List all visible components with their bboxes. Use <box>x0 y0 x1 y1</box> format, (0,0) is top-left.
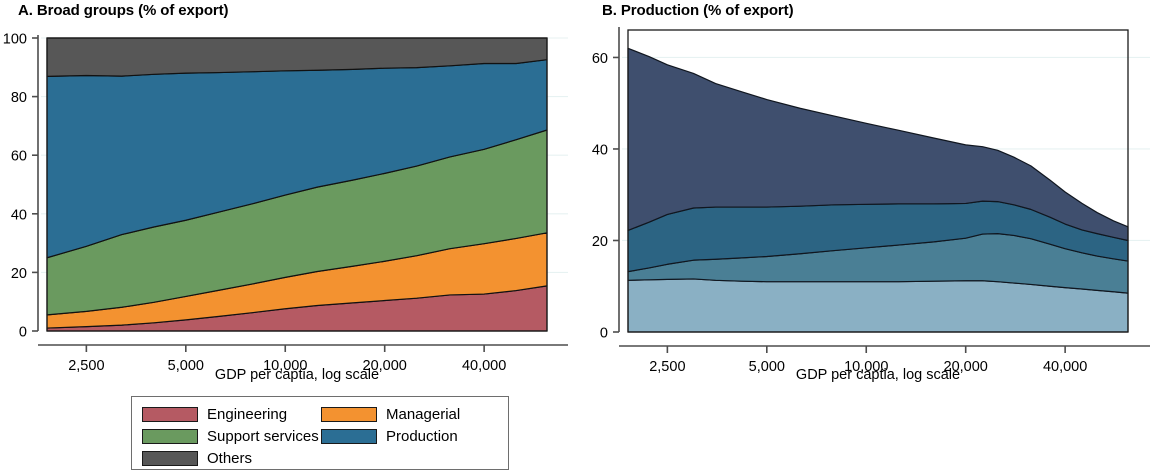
legend-swatch <box>321 429 377 444</box>
legend-item[interactable]: Managerial <box>321 403 500 425</box>
x-tick-label: 2,500 <box>68 358 104 374</box>
legend-label: Engineering <box>207 406 287 423</box>
y-tick-label: 80 <box>11 90 27 106</box>
y-tick-label: 20 <box>11 266 27 282</box>
y-tick-label: 0 <box>600 326 608 342</box>
x-tick-label: 40,000 <box>1043 359 1087 375</box>
x-tick-label: 5,000 <box>749 359 785 375</box>
legend-label: Support services <box>207 428 319 445</box>
legend-label: Managerial <box>386 406 460 423</box>
x-axis-title: GDP per captia, log scale <box>215 367 379 383</box>
y-tick-label: 0 <box>19 325 27 341</box>
y-tick-label: 40 <box>11 207 27 223</box>
legend-swatch <box>142 407 198 422</box>
figure-root: A. Broad groups (% of export) 0204060801… <box>0 0 1154 474</box>
legend-item[interactable]: Support services <box>142 425 321 447</box>
legend-item[interactable]: Others <box>142 447 321 469</box>
y-tick-label: 40 <box>592 142 608 158</box>
legend-item[interactable]: Production <box>321 425 500 447</box>
panel-a-legend: EngineeringManagerialSupport servicesPro… <box>131 396 509 470</box>
panel-a: A. Broad groups (% of export) 0204060801… <box>0 0 580 474</box>
legend-item[interactable]: Engineering <box>142 403 321 425</box>
y-tick-label: 20 <box>592 234 608 250</box>
y-tick-label: 60 <box>592 51 608 67</box>
legend-swatch <box>142 451 198 466</box>
x-tick-label: 5,000 <box>168 358 204 374</box>
y-tick-label: 60 <box>11 149 27 165</box>
x-tick-label: 2,500 <box>649 359 685 375</box>
y-tick-label: 100 <box>3 32 27 48</box>
panel-b: B. Production (% of export) 02040602,500… <box>580 0 1154 474</box>
panel-b-plot: 02040602,5005,00010,00020,00040,000GDP p… <box>580 0 1154 474</box>
x-tick-label: 40,000 <box>462 358 506 374</box>
x-axis-title: GDP per captia, log scale <box>796 367 960 383</box>
legend-swatch <box>321 407 377 422</box>
legend-label: Others <box>207 450 252 467</box>
legend-swatch <box>142 429 198 444</box>
legend-label: Production <box>386 428 458 445</box>
